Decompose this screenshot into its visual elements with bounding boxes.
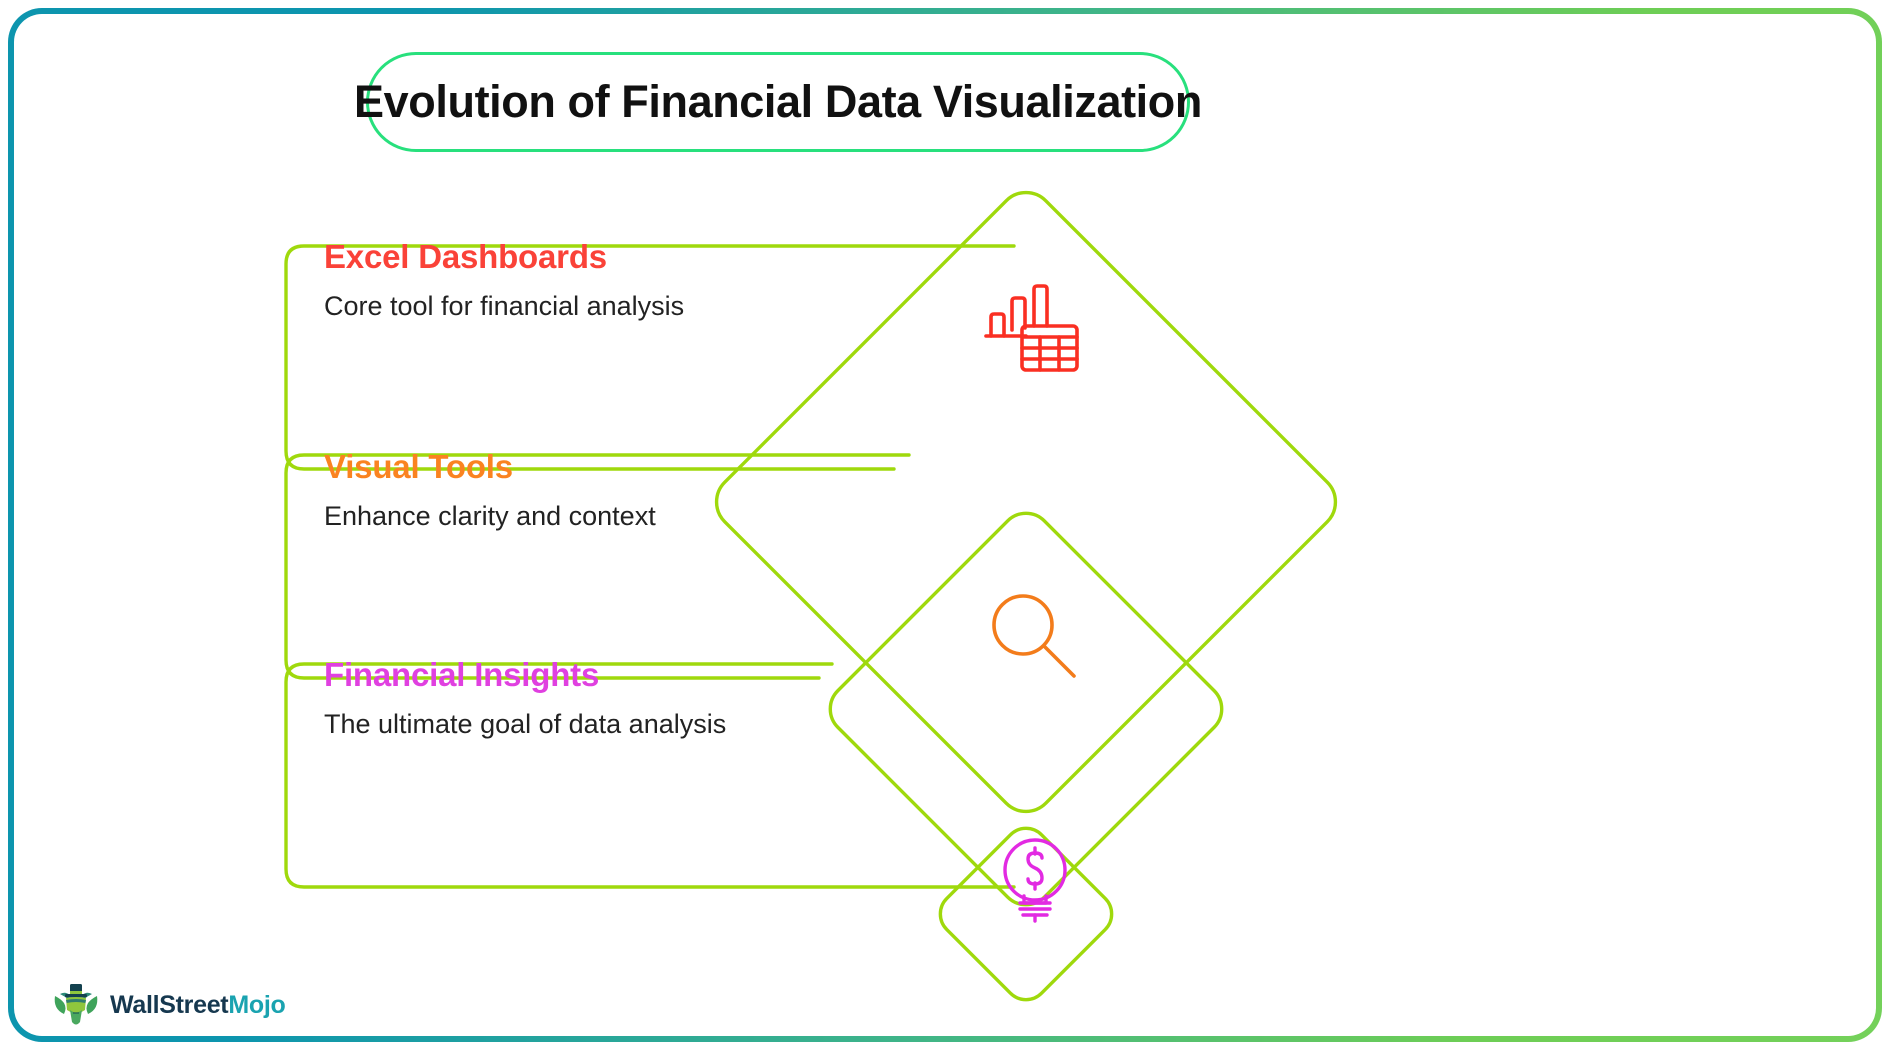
magnifying-glass-icon <box>986 592 1082 685</box>
page-title: Evolution of Financial Data Visualizatio… <box>354 76 1202 128</box>
diagram-artwork <box>14 14 1876 1036</box>
card-outline-stage-2 <box>286 455 909 678</box>
bar-chart-spreadsheet-icon <box>982 282 1082 379</box>
wallstreetmojo-bull-icon <box>52 982 100 1028</box>
diamond-stage-1 <box>705 181 1347 823</box>
brand-name-part1: WallStreet <box>110 991 228 1019</box>
outer-gradient-frame: Evolution of Financial Data Visualizatio… <box>8 8 1882 1042</box>
card-outline-stage-1 <box>286 246 1014 469</box>
brand-name-part2: Mojo <box>228 991 285 1019</box>
page-title-pill: Evolution of Financial Data Visualizatio… <box>366 52 1190 152</box>
brand-name: WallStreetMojo <box>110 991 285 1020</box>
canvas: Evolution of Financial Data Visualizatio… <box>14 14 1876 1036</box>
lightbulb-dollar-icon <box>996 834 1074 929</box>
card-outline-stage-3 <box>286 664 1014 887</box>
brand-logo[interactable]: WallStreetMojo <box>52 982 285 1028</box>
